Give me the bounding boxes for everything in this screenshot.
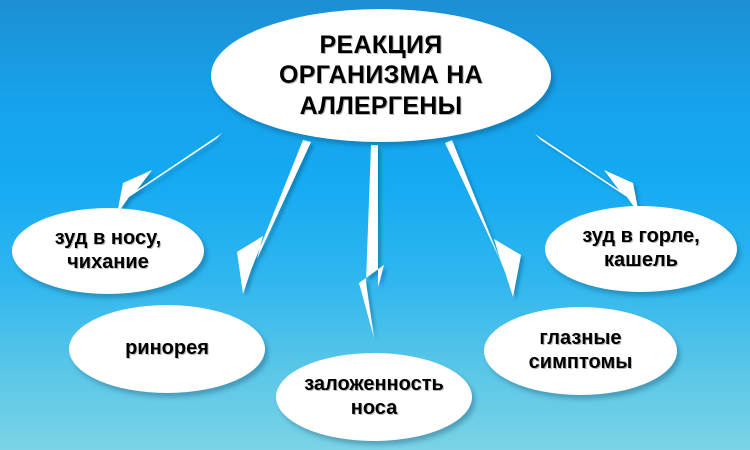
arrow-to-rhinorrhea [237,140,311,294]
node-congestion[interactable]: заложенность носа [276,353,472,441]
arrow-to-eye-symptoms [445,140,521,297]
node-nose-itch[interactable]: зуд в носу, чихание [12,208,204,294]
diagram-canvas: РЕАКЦИЯ ОРГАНИЗМА НА АЛЛЕРГЕНЫ зуд в нос… [0,0,750,450]
arrow-to-throat-itch [535,134,639,214]
node-nose-itch-label: зуд в носу, чихание [49,227,168,274]
node-root[interactable]: РЕАКЦИЯ ОРГАНИЗМА НА АЛЛЕРГЕНЫ [211,9,551,142]
node-eye-symptoms[interactable]: глазные симптомы [484,307,677,395]
node-congestion-label: заложенность носа [298,373,450,420]
node-eye-symptoms-label: глазные симптомы [523,327,639,374]
node-throat-itch[interactable]: зуд в горле, кашель [545,206,737,292]
node-rhinorrhea[interactable]: ринорея [69,305,265,393]
node-root-label: РЕАКЦИЯ ОРГАНИЗМА НА АЛЛЕРГЕНЫ [273,30,489,122]
arrow-to-nose-itch [117,133,222,214]
arrow-to-congestion [359,145,384,338]
node-throat-itch-label: зуд в горле, кашель [576,225,705,272]
node-rhinorrhea-label: ринорея [119,337,215,361]
